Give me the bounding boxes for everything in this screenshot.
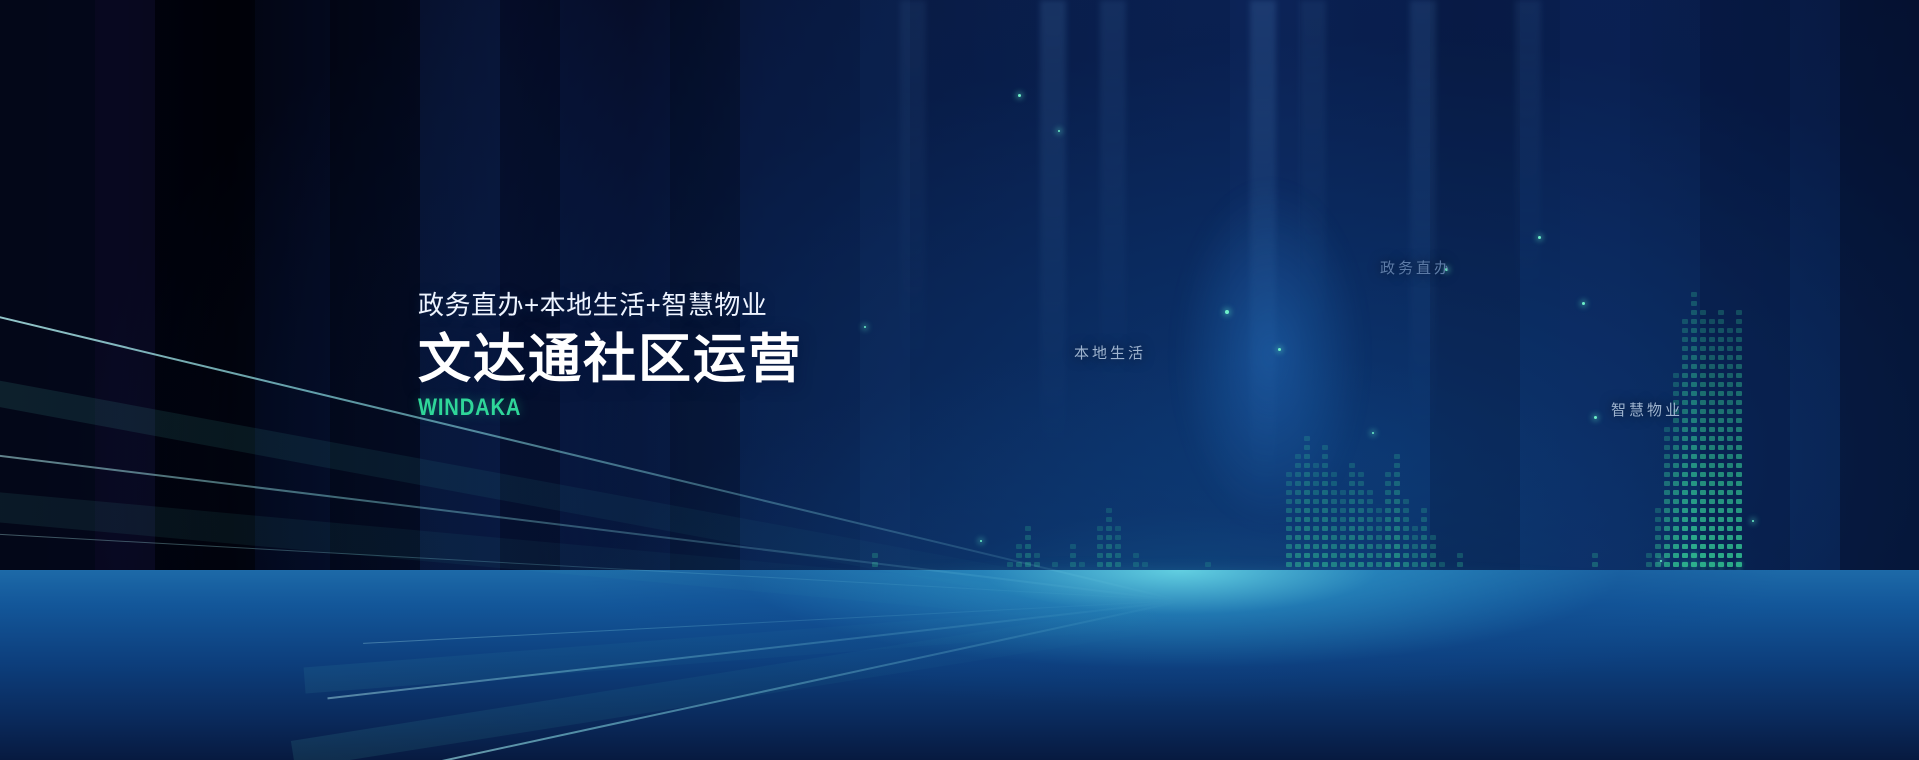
promo-banner: 政务直办+本地生活+智慧物业 文达通社区运营 WINDAKA 政务直办 本地生活…: [0, 0, 1919, 760]
district-label-local-life: 本地生活: [1074, 342, 1146, 363]
page-title: 文达通社区运营: [418, 332, 978, 388]
sparkle-icon: [1752, 520, 1754, 522]
perspective-ground: [0, 570, 1919, 760]
district-label-smart-property: 智慧物业: [1611, 399, 1683, 420]
sparkle-icon: [1278, 348, 1281, 351]
district-label-government: 政务直办: [1380, 257, 1452, 278]
sparkle-icon: [1225, 310, 1229, 314]
copy-block: 政务直办+本地生活+智慧物业 文达通社区运营 WINDAKA: [418, 292, 978, 420]
sparkle-icon: [1372, 432, 1374, 434]
sparkle-icon: [1594, 416, 1597, 419]
kicker-text: 政务直办+本地生活+智慧物业: [418, 292, 978, 318]
sparkle-icon: [1582, 302, 1585, 305]
sparkle-icon: [1538, 236, 1541, 239]
sparkle-icon: [1058, 130, 1060, 132]
sparkle-icon: [1018, 94, 1021, 97]
brand-wordmark: WINDAKA: [418, 396, 888, 420]
